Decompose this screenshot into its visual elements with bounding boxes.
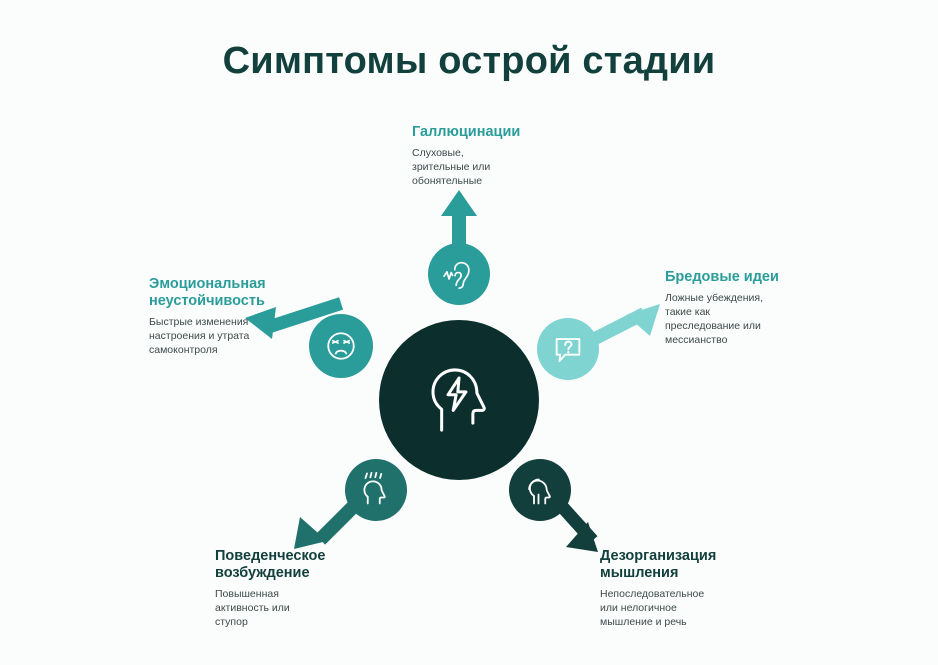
speech-bubble-question-icon: [551, 332, 585, 366]
double-head-icon: [522, 472, 558, 508]
heading-hallucinations: Галлюцинации: [412, 124, 602, 141]
node-hallucinations[interactable]: [428, 243, 490, 305]
infographic-canvas: Симптомы острой стадии: [0, 0, 938, 665]
head-lightning-icon: [422, 363, 496, 437]
description-behavioral-agitation: Повышенная активность или ступор: [215, 587, 415, 629]
node-delusions[interactable]: [537, 318, 599, 380]
block-behavioral-agitation: Поведенческое возбуждение Повышенная акт…: [215, 548, 415, 629]
block-disorganized-thinking: Дезорганизация мышления Непоследовательн…: [600, 548, 810, 629]
block-hallucinations: Галлюцинации Слуховые, зрительные или об…: [412, 124, 602, 188]
node-behavioral-agitation[interactable]: [345, 459, 407, 521]
agitated-head-icon: [358, 472, 394, 508]
heading-disorganized-thinking: Дезорганизация мышления: [600, 548, 810, 582]
heading-behavioral-agitation: Поведенческое возбуждение: [215, 548, 415, 582]
block-delusions: Бредовые идеи Ложные убеждения, такие ка…: [665, 269, 855, 347]
center-node[interactable]: [379, 320, 539, 480]
heading-emotional-instability: Эмоциональная неустойчивость: [149, 276, 339, 310]
ear-sound-icon: [442, 257, 476, 291]
node-disorganized-thinking[interactable]: [509, 459, 571, 521]
description-hallucinations: Слуховые, зрительные или обонятельные: [412, 146, 602, 188]
description-delusions: Ложные убеждения, такие как преследовани…: [665, 291, 855, 347]
description-emotional-instability: Быстрые изменения настроения и утрата са…: [149, 315, 339, 357]
heading-delusions: Бредовые идеи: [665, 269, 855, 286]
block-emotional-instability: Эмоциональная неустойчивость Быстрые изм…: [149, 276, 339, 357]
description-disorganized-thinking: Непоследовательное или нелогичное мышлен…: [600, 587, 810, 629]
